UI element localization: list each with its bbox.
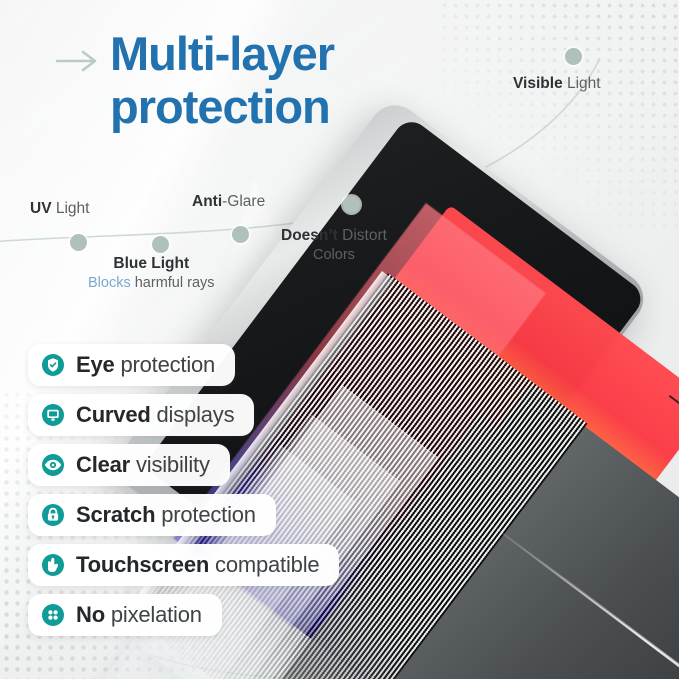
feature-label: Touchscreen compatible bbox=[76, 552, 319, 578]
feature-label: Scratch protection bbox=[76, 502, 256, 528]
lock-icon bbox=[41, 503, 65, 527]
feature-label-bold: No bbox=[76, 602, 105, 627]
curve-node-visible-light bbox=[565, 48, 582, 65]
curve-node-anti-glare bbox=[232, 226, 249, 243]
label-blue-light-sub-rest: harmful rays bbox=[131, 275, 215, 291]
feature-label-bold: Clear bbox=[76, 452, 130, 477]
label-doesnt-distort-bold: Doesn’t bbox=[281, 227, 338, 244]
feature-label-rest: protection bbox=[115, 352, 216, 377]
curve-node-uv-light bbox=[70, 234, 87, 251]
feature-item-eye-protection[interactable]: Eye protection bbox=[28, 344, 235, 386]
feature-label-rest: pixelation bbox=[105, 602, 202, 627]
feature-label-rest: displays bbox=[151, 402, 235, 427]
feature-label-bold: Curved bbox=[76, 402, 151, 427]
grid-dots-icon bbox=[41, 603, 65, 627]
product-marketing-image: Multi-layer protection UV Light Blue Lig… bbox=[0, 0, 679, 679]
feature-label-bold: Eye bbox=[76, 352, 115, 377]
feature-item-scratch-protection[interactable]: Scratch protection bbox=[28, 494, 276, 536]
feature-list: Eye protection Curved displays Clear vis… bbox=[28, 344, 339, 636]
arrow-right-icon bbox=[55, 46, 101, 76]
feature-label-rest: visibility bbox=[130, 452, 210, 477]
feature-label-rest: compatible bbox=[209, 552, 319, 577]
headline-line-1: Multi-layer bbox=[110, 28, 530, 81]
monitor-icon bbox=[41, 403, 65, 427]
feature-item-clear-visibility[interactable]: Clear visibility bbox=[28, 444, 230, 486]
label-blue-light-sub: Blocks harmful rays bbox=[88, 275, 215, 291]
label-anti-glare-rest: -Glare bbox=[222, 193, 265, 210]
label-doesnt-distort-rest: Distort bbox=[338, 227, 387, 244]
label-uv-light: UV Light bbox=[30, 200, 89, 218]
feature-label: Clear visibility bbox=[76, 452, 210, 478]
label-anti-glare-bold: Anti bbox=[192, 193, 222, 210]
label-doesnt-distort-sub: Colors bbox=[281, 247, 387, 263]
tablet-product-illustration bbox=[330, 85, 679, 679]
label-visible-light-bold: Visible bbox=[513, 75, 563, 92]
feature-label-rest: protection bbox=[155, 502, 256, 527]
feature-item-no-pixelation[interactable]: No pixelation bbox=[28, 594, 222, 636]
curve-node-blue-light bbox=[152, 236, 169, 253]
label-blue-light: Blue Light Blocks harmful rays bbox=[88, 255, 215, 291]
touch-hand-icon bbox=[41, 553, 65, 577]
page-title: Multi-layer protection bbox=[110, 28, 530, 133]
feature-label: Curved displays bbox=[76, 402, 234, 428]
label-blue-light-sub-accent: Blocks bbox=[88, 275, 131, 291]
feature-label: Eye protection bbox=[76, 352, 215, 378]
label-visible-light: Visible Light bbox=[513, 75, 601, 93]
feature-item-touchscreen-compatible[interactable]: Touchscreen compatible bbox=[28, 544, 339, 586]
shield-check-icon bbox=[41, 353, 65, 377]
label-visible-light-rest: Light bbox=[563, 75, 601, 92]
feature-label-bold: Touchscreen bbox=[76, 552, 209, 577]
curve-node-doesnt-distort bbox=[343, 196, 360, 213]
feature-label-bold: Scratch bbox=[76, 502, 155, 527]
label-uv-light-bold: UV bbox=[30, 200, 52, 217]
label-uv-light-rest: Light bbox=[52, 200, 90, 217]
label-blue-light-bold: Blue Light bbox=[113, 255, 189, 272]
headline-line-2: protection bbox=[110, 81, 530, 134]
feature-label: No pixelation bbox=[76, 602, 202, 628]
label-doesnt-distort: Doesn’t Distort Colors bbox=[281, 227, 387, 263]
label-anti-glare: Anti-Glare bbox=[192, 193, 265, 211]
feature-item-curved-displays[interactable]: Curved displays bbox=[28, 394, 254, 436]
eye-icon bbox=[41, 453, 65, 477]
